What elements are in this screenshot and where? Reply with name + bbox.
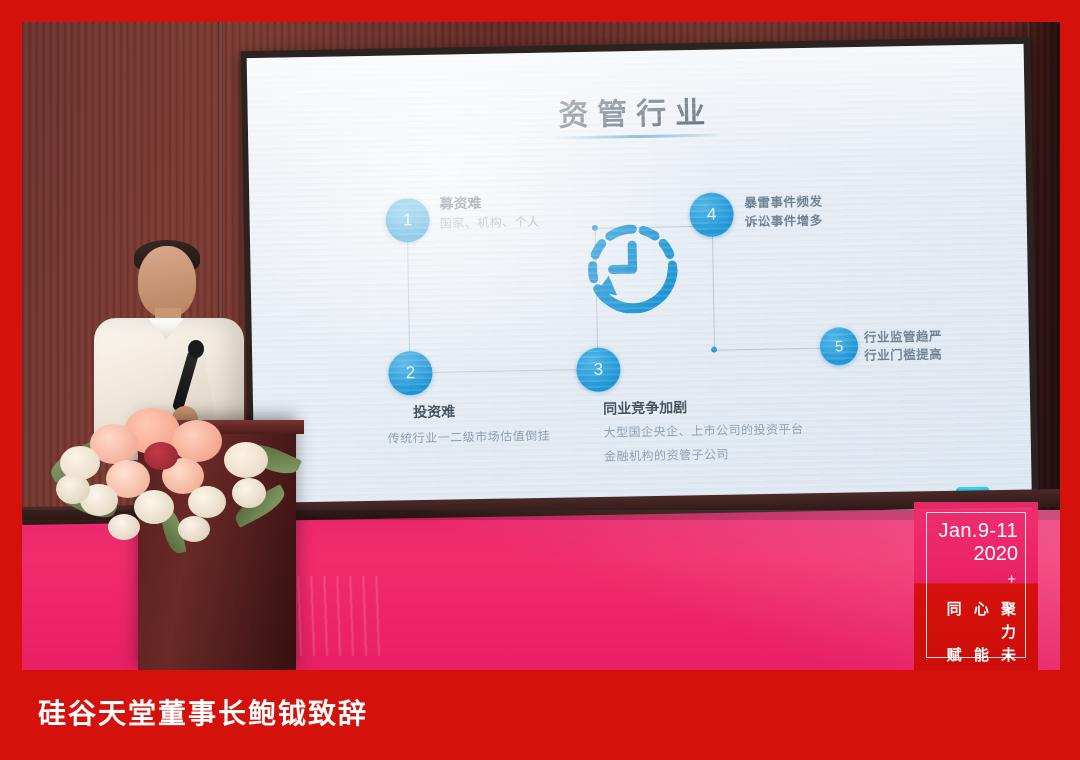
connector-4-to-5 — [712, 236, 715, 350]
item-1-subtitle: 国家、机构、个人 — [440, 212, 540, 234]
item-3-subtitle-2: 金融机构的资管子公司 — [604, 443, 804, 467]
caption-bar: 硅谷天堂董事长鲍钺致辞 — [0, 670, 1080, 760]
flower-bouquet — [46, 398, 302, 558]
item-3-heading: 同业竞争加剧 — [603, 396, 803, 419]
node-2: 2 — [388, 351, 433, 396]
speaker-figure — [60, 240, 300, 670]
badge-slogan-line-2: 赋 能 未 来 — [928, 644, 1020, 670]
connector-to-5 — [714, 348, 822, 351]
item-3-label: 同业竞争加剧 大型国企央企、上市公司的投资平台 金融机构的资管子公司 — [603, 396, 804, 467]
node-4: 4 — [689, 192, 734, 237]
item-2-heading: 投资难 — [413, 401, 550, 422]
badge-slogan-line-1: 同 心 聚 力 — [928, 598, 1020, 644]
node-5: 5 — [820, 327, 859, 366]
item-1-heading: 募资难 — [439, 193, 539, 214]
event-date-badge: Jan.9-11 2020 + 同 心 聚 力 赋 能 未 来 — [914, 502, 1038, 670]
connector-2-to-3 — [432, 369, 578, 373]
slide-title: 资管行业 — [247, 82, 1025, 140]
item-4-subtitle-2: 诉讼事件增多 — [745, 212, 823, 232]
microphone-head — [188, 340, 204, 358]
badge-year: 2020 — [926, 543, 1018, 566]
photo-red-frame: 资管行业 — [0, 0, 1080, 760]
screen-surface: 资管行业 — [247, 44, 1033, 538]
item-5-subtitle: 行业监管趋严 — [864, 327, 942, 346]
item-3-subtitle: 大型国企央企、上市公司的投资平台 — [603, 419, 803, 443]
item-2-label: 投资难 传统行业一二级市场估值倒挂 — [413, 401, 550, 448]
item-4-subtitle: 暴雷事件频发 — [744, 193, 822, 213]
projection-screen: 资管行业 — [241, 37, 1040, 546]
caption-text: 硅谷天堂董事长鲍钺致辞 — [38, 692, 368, 732]
item-5-subtitle-2: 行业门槛提高 — [864, 345, 942, 364]
badge-plus-icon: + — [926, 572, 1016, 587]
node-3: 3 — [576, 347, 621, 392]
badge-date: Jan.9-11 — [926, 520, 1018, 543]
event-photo: 资管行业 — [22, 22, 1060, 670]
connector-1-to-2 — [407, 241, 410, 353]
connector-dot-right — [711, 347, 717, 353]
slide-title-underline — [555, 134, 719, 140]
clock-history-icon — [572, 210, 694, 332]
presentation-slide: 资管行业 — [247, 44, 1033, 538]
node-1: 1 — [385, 198, 430, 243]
item-5-label: 行业监管趋严 行业门槛提高 — [864, 327, 943, 364]
item-1-label: 募资难 国家、机构、个人 — [439, 193, 540, 234]
item-4-label: 暴雷事件频发 诉讼事件增多 — [744, 193, 823, 232]
item-2-subtitle: 传统行业一二级市场估值倒挂 — [387, 426, 550, 449]
badge-slogan: 同 心 聚 力 赋 能 未 来 — [928, 598, 1020, 670]
